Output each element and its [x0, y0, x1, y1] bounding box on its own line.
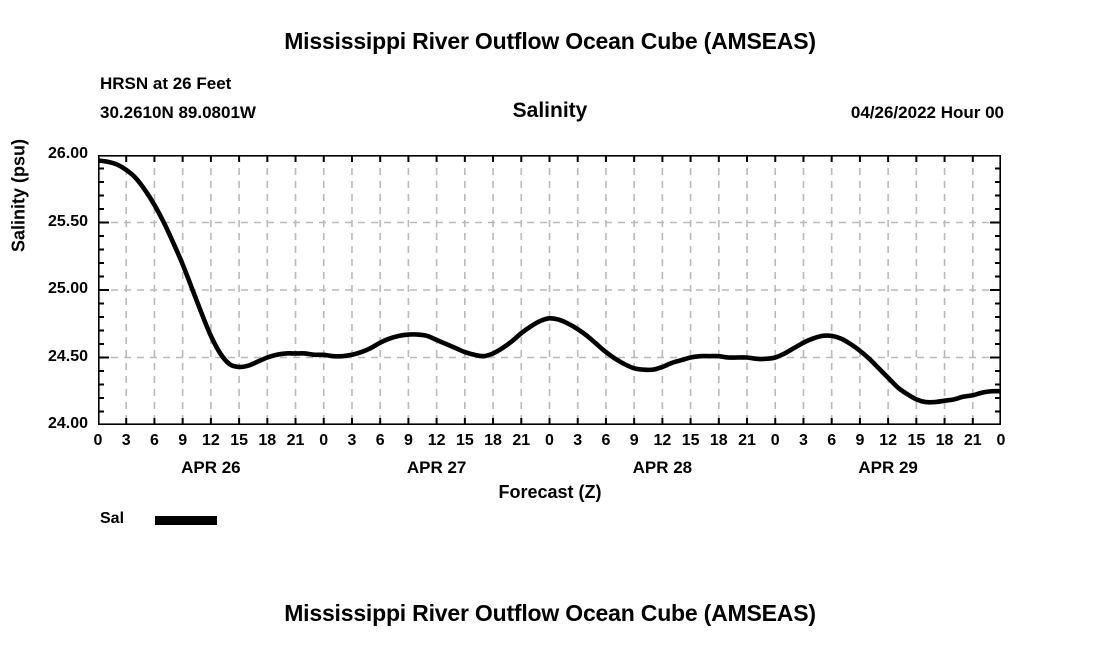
x-tick-label: 12: [422, 432, 452, 450]
forecast-datetime-label: 04/26/2022 Hour 00: [851, 103, 1004, 123]
x-tick-label: 3: [337, 432, 367, 450]
x-tick-label: 18: [704, 432, 734, 450]
y-tick-label: 26.00: [18, 145, 88, 163]
x-tick-label: 9: [845, 432, 875, 450]
y-tick-label: 25.00: [18, 280, 88, 298]
page-title: Mississippi River Outflow Ocean Cube (AM…: [0, 28, 1100, 55]
x-tick-label: 0: [986, 432, 1016, 450]
y-tick-label: 24.00: [18, 415, 88, 433]
x-tick-label: 12: [647, 432, 677, 450]
x-tick-label: 3: [788, 432, 818, 450]
chart-canvas: [98, 155, 1001, 425]
x-tick-label: 21: [958, 432, 988, 450]
station-label: HRSN at 26 Feet: [100, 74, 231, 94]
x-tick-label: 15: [224, 432, 254, 450]
plot-area: [98, 155, 1001, 425]
day-label: APR 28: [597, 458, 727, 478]
x-tick-label: 0: [309, 432, 339, 450]
x-tick-label: 15: [901, 432, 931, 450]
x-tick-label: 9: [393, 432, 423, 450]
x-tick-label: 21: [506, 432, 536, 450]
x-tick-label: 21: [732, 432, 762, 450]
x-tick-label: 9: [168, 432, 198, 450]
day-label: APR 27: [372, 458, 502, 478]
x-tick-label: 15: [676, 432, 706, 450]
x-tick-label: 6: [365, 432, 395, 450]
x-axis-title: Forecast (Z): [0, 482, 1100, 503]
day-label: APR 29: [823, 458, 953, 478]
x-tick-label: 15: [450, 432, 480, 450]
x-tick-label: 9: [619, 432, 649, 450]
x-tick-label: 6: [591, 432, 621, 450]
page-footer: Mississippi River Outflow Ocean Cube (AM…: [0, 600, 1100, 627]
x-tick-label: 0: [83, 432, 113, 450]
legend-label: Sal: [100, 510, 124, 528]
legend-swatch-sal: [155, 516, 217, 525]
x-tick-label: 6: [139, 432, 169, 450]
day-label: APR 26: [146, 458, 276, 478]
x-tick-label: 3: [111, 432, 141, 450]
chart-page: Mississippi River Outflow Ocean Cube (AM…: [0, 0, 1100, 650]
x-tick-label: 6: [817, 432, 847, 450]
x-tick-label: 21: [281, 432, 311, 450]
x-tick-label: 12: [873, 432, 903, 450]
x-tick-label: 12: [196, 432, 226, 450]
x-tick-label: 3: [563, 432, 593, 450]
x-tick-label: 0: [535, 432, 565, 450]
y-tick-label: 25.50: [18, 213, 88, 231]
x-tick-label: 18: [930, 432, 960, 450]
x-tick-label: 0: [760, 432, 790, 450]
x-tick-label: 18: [252, 432, 282, 450]
x-tick-label: 18: [478, 432, 508, 450]
y-tick-label: 24.50: [18, 348, 88, 366]
